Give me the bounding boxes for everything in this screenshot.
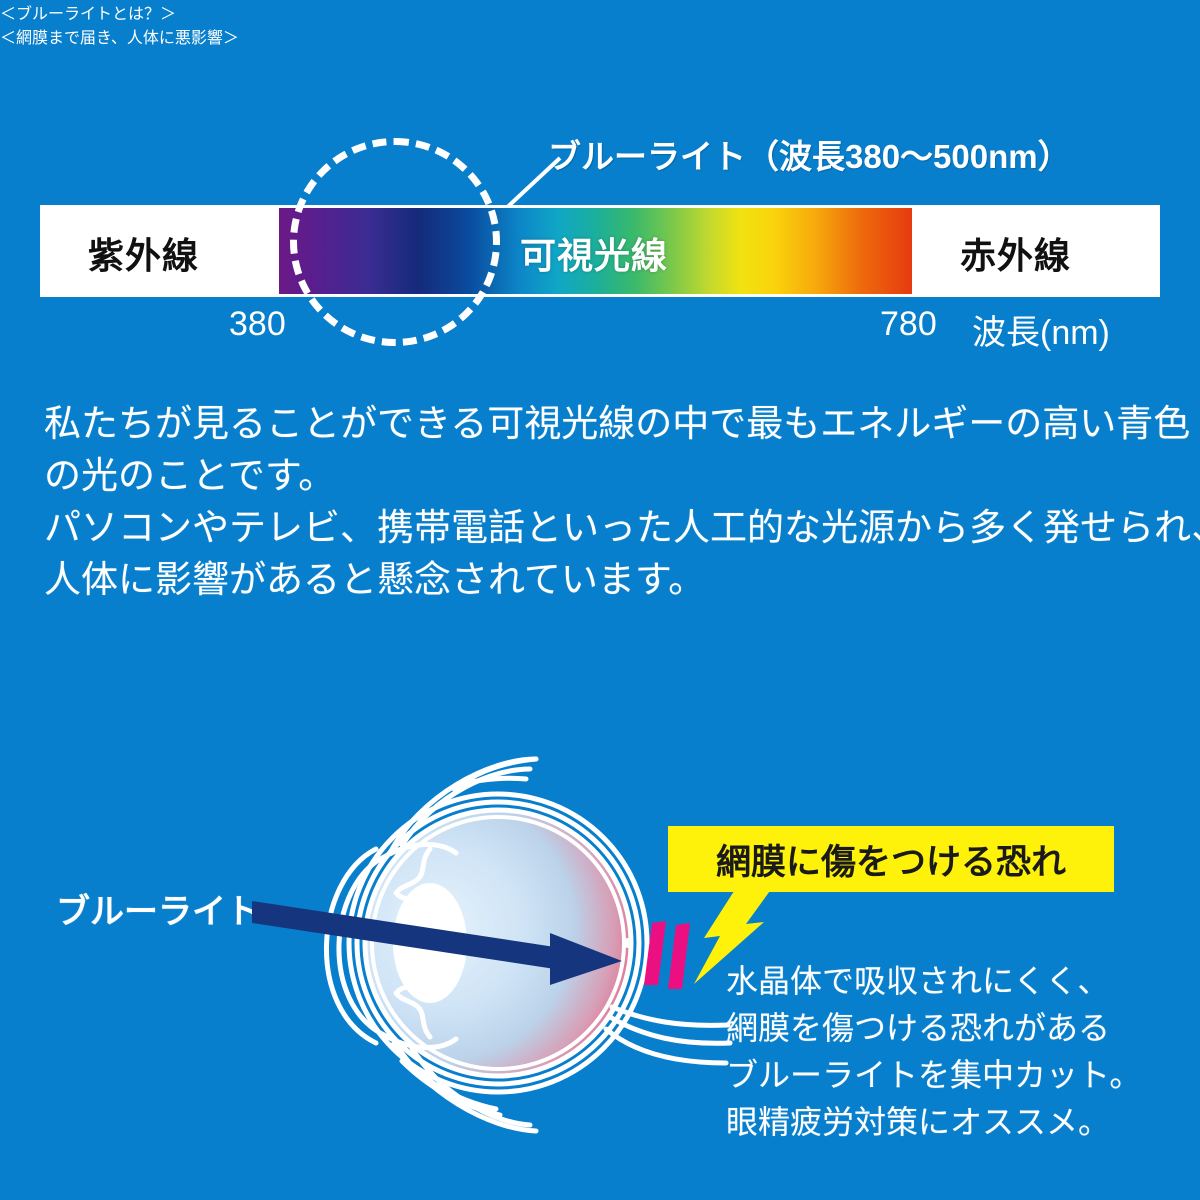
- section-heading-retina-damage: ＜網膜まで届き、人体に悪影響＞: [0, 24, 1200, 48]
- axis-unit-label: 波長(nm): [972, 305, 1110, 354]
- spectrum-bar: 紫外線 可視光線 赤外線: [40, 205, 1160, 297]
- blue-light-arrow-label: ブルーライト: [56, 884, 260, 933]
- infographic-canvas: ＜ブルーライトとは？＞ ブルーライト（波長380〜500nm） 紫外線 可視光線…: [0, 0, 1200, 1200]
- paragraph-line: 人体に影響があると懸念されています。: [44, 554, 1164, 606]
- product-benefit-note: 水晶体で吸収されにくく、 網膜を傷つける恐れがある ブルーライトを集中カット。 …: [726, 958, 1156, 1146]
- spectrum-label-infrared: 赤外線: [960, 227, 1071, 279]
- spectrum-callout-label: ブルーライト（波長380〜500nm）: [548, 130, 1071, 178]
- retina-warning-callout: 網膜に傷をつける恐れ: [668, 826, 1114, 892]
- spectrum-label-ultraviolet: 紫外線: [88, 227, 199, 279]
- paragraph-line: の光のことです。: [44, 450, 1164, 502]
- axis-tick-780: 780: [880, 305, 937, 344]
- note-line: 水晶体で吸収されにくく、: [726, 958, 1156, 1005]
- axis-tick-380: 380: [229, 305, 286, 344]
- spectrum-label-visible: 可視光線: [520, 227, 668, 279]
- retina-warning-callout-text: 網膜に傷をつける恐れ: [716, 834, 1066, 885]
- blue-light-arrow: [250, 885, 650, 995]
- note-line: 網膜を傷つける恐れがある: [726, 1005, 1156, 1052]
- paragraph-line: 私たちが見ることができる可視光線の中で最もエネルギーの高い青色: [44, 398, 1164, 450]
- description-paragraph: 私たちが見ることができる可視光線の中で最もエネルギーの高い青色 の光のことです。…: [44, 398, 1164, 606]
- section-heading-what-is-blue-light: ＜ブルーライトとは？＞: [0, 0, 1200, 24]
- paragraph-line: パソコンやテレビ、携帯電話といった人工的な光源から多く発せられ、: [44, 502, 1164, 554]
- note-line: 眼精疲労対策にオススメ。: [726, 1099, 1156, 1146]
- note-line: ブルーライトを集中カット。: [726, 1052, 1156, 1099]
- blue-light-highlight-circle: [290, 138, 500, 346]
- optic-nerve: [606, 1007, 730, 1063]
